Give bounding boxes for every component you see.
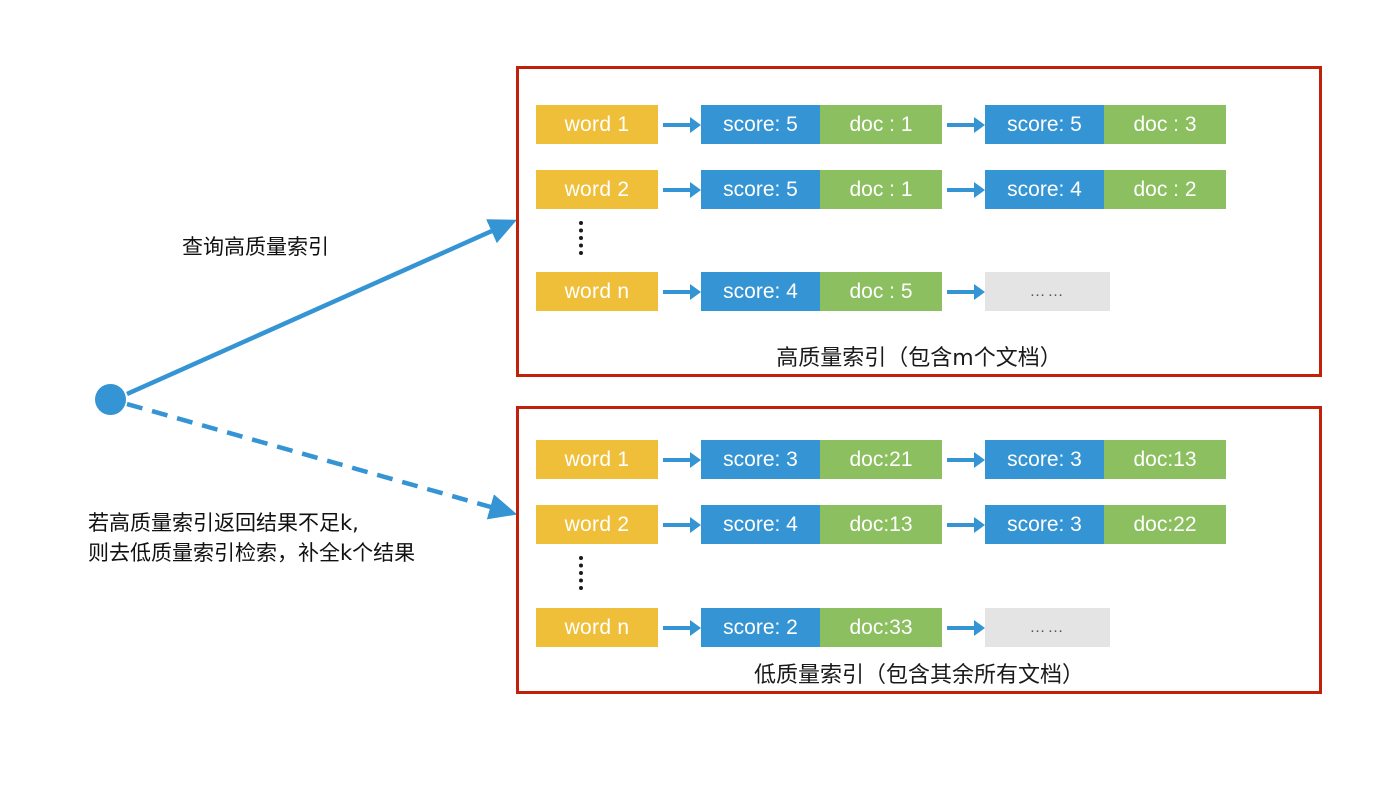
arrow-to-low-quality-index — [127, 404, 512, 513]
word-box[interactable]: word n — [536, 608, 658, 647]
score-box[interactable]: score: 3 — [701, 440, 820, 479]
posting-node: score: 5 doc : 1 — [701, 170, 942, 209]
posting-node: score: 3 doc:21 — [701, 440, 942, 479]
doc-box[interactable]: doc : 5 — [820, 272, 942, 311]
doc-box[interactable]: doc:22 — [1104, 505, 1226, 544]
link-arrow-icon — [658, 608, 701, 647]
link-arrow-icon — [658, 272, 701, 311]
doc-box[interactable]: doc:33 — [820, 608, 942, 647]
posting-node: score: 3 doc:22 — [985, 505, 1226, 544]
more-postings-box: …… — [985, 272, 1110, 311]
link-arrow-icon — [942, 105, 985, 144]
diagram-canvas: 查询高质量索引 若高质量索引返回结果不足k, 则去低质量索引检索，补全k个结果 … — [0, 0, 1400, 788]
doc-box[interactable]: doc:13 — [820, 505, 942, 544]
word-box[interactable]: word 1 — [536, 440, 658, 479]
query-origin-dot[interactable] — [95, 384, 126, 415]
score-box[interactable]: score: 4 — [701, 272, 820, 311]
posting-node: score: 4 doc : 2 — [985, 170, 1226, 209]
posting-node: score: 4 doc : 5 — [701, 272, 942, 311]
link-arrow-icon — [942, 440, 985, 479]
doc-box[interactable]: doc : 1 — [820, 170, 942, 209]
fallback-low-quality-label: 若高质量索引返回结果不足k, 则去低质量索引检索，补全k个结果 — [88, 508, 415, 569]
posting-node: score: 3 doc:13 — [985, 440, 1226, 479]
link-arrow-icon — [942, 608, 985, 647]
low-quality-index-caption: 低质量索引（包含其余所有文档） — [516, 657, 1322, 689]
doc-box[interactable]: doc:13 — [1104, 440, 1226, 479]
posting-row: word 2 score: 4 doc:13 score: 3 doc:22 — [536, 505, 1226, 544]
doc-box[interactable]: doc : 1 — [820, 105, 942, 144]
posting-node: score: 5 doc : 1 — [701, 105, 942, 144]
query-high-quality-label: 查询高质量索引 — [182, 232, 329, 262]
score-box[interactable]: score: 5 — [985, 105, 1104, 144]
posting-row: word 1 score: 5 doc : 1 score: 5 doc : 3 — [536, 105, 1226, 144]
word-box[interactable]: word 2 — [536, 170, 658, 209]
vertical-ellipsis-icon — [579, 556, 588, 590]
high-quality-index-caption: 高质量索引（包含m个文档） — [516, 340, 1322, 372]
posting-row: word n score: 2 doc:33 …… — [536, 608, 1110, 647]
score-box[interactable]: score: 4 — [985, 170, 1104, 209]
score-box[interactable]: score: 5 — [701, 170, 820, 209]
score-box[interactable]: score: 2 — [701, 608, 820, 647]
vertical-ellipsis-icon — [579, 221, 588, 255]
link-arrow-icon — [658, 505, 701, 544]
word-box[interactable]: word 2 — [536, 505, 658, 544]
posting-node: score: 2 doc:33 — [701, 608, 942, 647]
link-arrow-icon — [658, 440, 701, 479]
posting-node: score: 5 doc : 3 — [985, 105, 1226, 144]
doc-box[interactable]: doc : 2 — [1104, 170, 1226, 209]
posting-node: score: 4 doc:13 — [701, 505, 942, 544]
link-arrow-icon — [658, 105, 701, 144]
posting-row: word n score: 4 doc : 5 …… — [536, 272, 1110, 311]
doc-box[interactable]: doc:21 — [820, 440, 942, 479]
score-box[interactable]: score: 5 — [701, 105, 820, 144]
more-postings-box: …… — [985, 608, 1110, 647]
doc-box[interactable]: doc : 3 — [1104, 105, 1226, 144]
word-box[interactable]: word 1 — [536, 105, 658, 144]
posting-row: word 2 score: 5 doc : 1 score: 4 doc : 2 — [536, 170, 1226, 209]
score-box[interactable]: score: 3 — [985, 440, 1104, 479]
link-arrow-icon — [658, 170, 701, 209]
score-box[interactable]: score: 3 — [985, 505, 1104, 544]
score-box[interactable]: score: 4 — [701, 505, 820, 544]
link-arrow-icon — [942, 170, 985, 209]
word-box[interactable]: word n — [536, 272, 658, 311]
link-arrow-icon — [942, 272, 985, 311]
link-arrow-icon — [942, 505, 985, 544]
posting-row: word 1 score: 3 doc:21 score: 3 doc:13 — [536, 440, 1226, 479]
